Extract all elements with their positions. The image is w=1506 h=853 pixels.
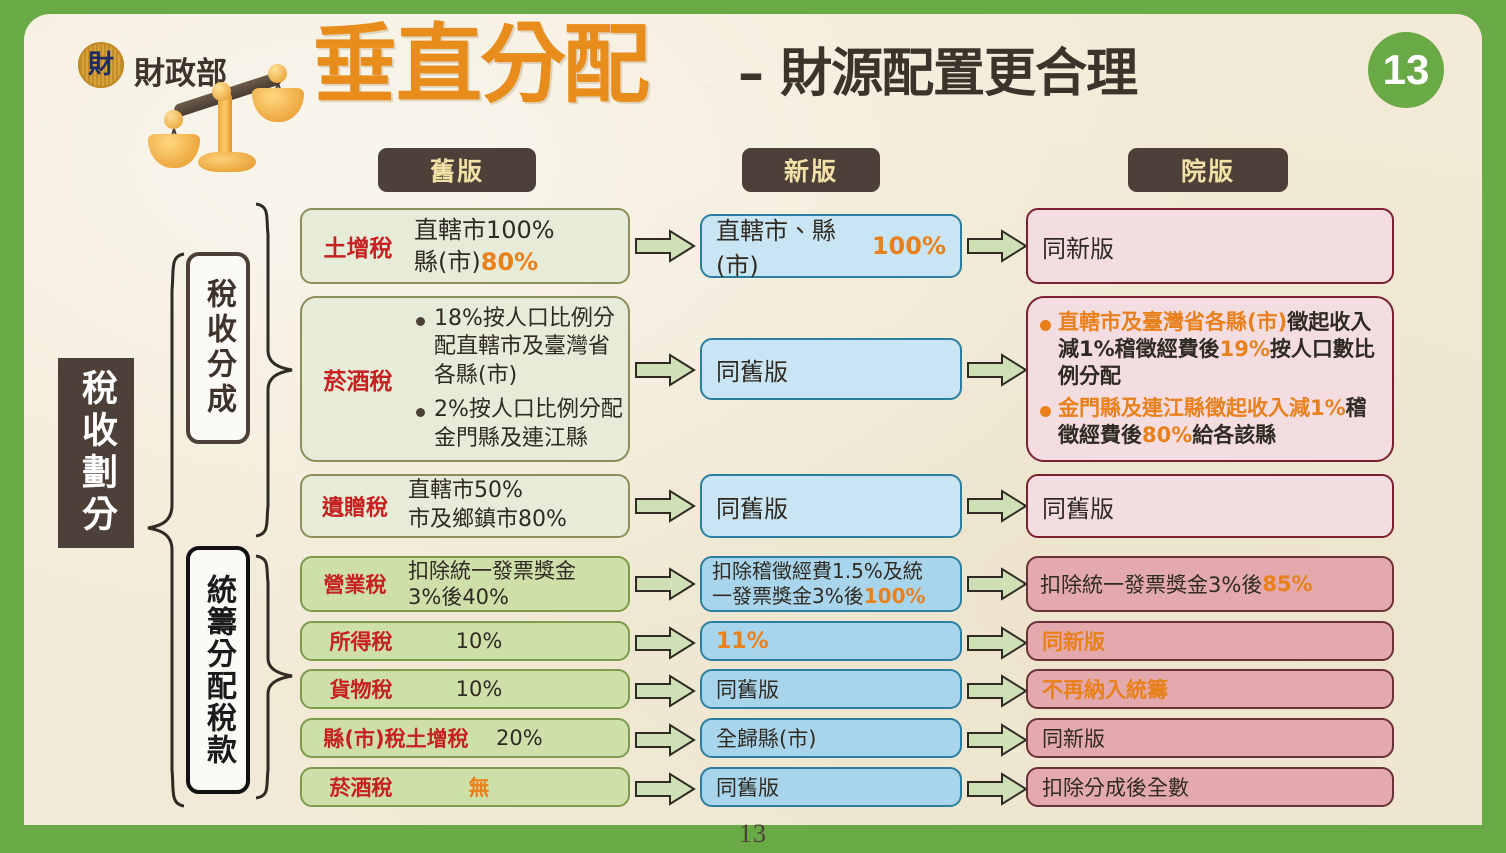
row-2-new-text: 同舊版 [716, 489, 788, 524]
row-5-arrow-old-to-new [634, 674, 696, 708]
row-6-executive-text: 同新版 [1042, 723, 1105, 753]
row-4-tax-label: 所得稅 [302, 626, 420, 656]
row-6-tax-label: 縣(市)稅土增稅 [302, 723, 490, 753]
row-1-exe-b1-hl: 80% [1142, 423, 1192, 447]
row-7-new-text: 同舊版 [716, 772, 779, 802]
row-2-old-line-1: 市及鄉鎮市80% [408, 506, 628, 535]
row-6-arrow-old-to-new [634, 723, 696, 757]
row-5-executive-highlight: 不再納入統籌 [1042, 674, 1168, 704]
row-0-old-line-1: 縣(市) [414, 248, 481, 276]
row-0-new-box: 直轄市、縣(市)100% [700, 214, 962, 278]
row-4-new-highlight: 11% [716, 629, 769, 654]
row-0-arrow-new-to-exe [966, 229, 1028, 263]
row-0-old-highlight: 80% [481, 248, 538, 276]
left-group-label-centrally-allocated: 統籌分配稅款 [186, 546, 250, 794]
row-6-new-text: 全歸縣(市) [716, 723, 816, 753]
row-3-executive-text: 扣除統一發票獎金3%後 [1040, 569, 1262, 599]
row-5-old-value: 10% [420, 677, 628, 701]
left-group-label-tax-sharing: 稅收分成 [186, 252, 250, 444]
row-5-arrow-new-to-exe [966, 674, 1028, 708]
row-2-arrow-new-to-exe [966, 489, 1028, 523]
row-1-new-text: 同舊版 [716, 352, 788, 387]
row-0-old-box: 土增稅 直轄市100% 縣(市)80% [300, 208, 630, 284]
row-4-arrow-new-to-exe [966, 626, 1028, 660]
row-2-old-box: 遺贈稅 直轄市50% 市及鄉鎮市80% [300, 474, 630, 538]
row-0-new-text: 直轄市、縣(市) [716, 211, 872, 281]
row-6-new-box: 全歸縣(市) [700, 718, 962, 758]
footer-page-number: 13 [0, 819, 1506, 849]
row-1-arrow-old-to-new [634, 353, 696, 387]
row-1-tax-label: 菸酒稅 [302, 362, 414, 396]
row-2-old-line-0: 直轄市50% [408, 477, 628, 506]
row-3-executive-box: 扣除統一發票獎金3%後85% [1026, 556, 1394, 612]
row-7-old-highlight: 無 [469, 776, 490, 800]
row-4-old-value: 10% [420, 629, 628, 653]
row-1-exe-b1-tail: 給各該縣 [1192, 423, 1276, 447]
row-3-new-highlight: 100% [864, 584, 926, 608]
row-6-executive-box: 同新版 [1026, 718, 1394, 758]
row-1-arrow-new-to-exe [966, 353, 1028, 387]
row-3-new-line-1: 一發票獎金3%後 [712, 584, 864, 608]
row-0-new-highlight: 100% [872, 232, 946, 260]
row-7-arrow-new-to-exe [966, 772, 1028, 806]
row-4-new-box: 11% [700, 621, 962, 661]
row-1-exe-b0-head: 直轄市及臺灣省各縣(市) [1058, 310, 1287, 334]
row-7-new-box: 同舊版 [700, 767, 962, 807]
row-4-old-box: 所得稅 10% [300, 621, 630, 661]
row-3-executive-highlight: 85% [1262, 572, 1312, 596]
row-3-old-line-0: 扣除統一發票獎金 [408, 558, 628, 584]
row-0-executive-text: 同新版 [1042, 229, 1114, 264]
column-header-old: 舊版 [378, 148, 536, 192]
row-0-arrow-old-to-new [634, 229, 696, 263]
row-0-tax-label: 土增稅 [302, 229, 414, 263]
row-7-arrow-old-to-new [634, 772, 696, 806]
row-5-executive-box: 不再納入統籌 [1026, 669, 1394, 709]
row-7-executive-box: 扣除分成後全數 [1026, 767, 1394, 807]
row-0-old-line-0: 直轄市100% [414, 214, 628, 246]
row-5-tax-label: 貨物稅 [302, 674, 420, 704]
column-header-new: 新版 [742, 148, 880, 192]
row-1-exe-b1-head: 金門縣及連江縣徵起收入減1% [1058, 396, 1346, 420]
row-7-executive-text: 扣除分成後全數 [1042, 772, 1189, 802]
logo-glyph: 財 [78, 44, 124, 81]
row-1-new-box: 同舊版 [700, 338, 962, 400]
left-root-label: 稅收劃分 [58, 358, 134, 548]
row-2-arrow-old-to-new [634, 489, 696, 523]
row-6-arrow-new-to-exe [966, 723, 1028, 757]
row-5-new-text: 同舊版 [716, 674, 779, 704]
row-7-tax-label: 菸酒稅 [302, 772, 420, 802]
row-3-tax-label: 營業稅 [302, 569, 408, 599]
row-4-executive-box: 同新版 [1026, 621, 1394, 661]
row-6-old-box: 縣(市)稅土增稅 20% [300, 718, 630, 758]
row-1-old-box: 菸酒稅 18%按人口比例分配直轄市及臺灣省各縣(市) 2%按人口比例分配金門縣及… [300, 296, 630, 462]
row-3-arrow-new-to-exe [966, 567, 1028, 601]
column-header-executive: 院版 [1128, 148, 1288, 192]
row-3-old-line-1: 3%後40% [408, 584, 628, 610]
slide-root: 財 財政部 垂直分配 – 財源配置更合理 13 舊版 新版 院版 稅收劃分 稅收… [0, 0, 1506, 853]
row-3-old-box: 營業稅 扣除統一發票獎金 3%後40% [300, 556, 630, 612]
row-3-new-line-0: 扣除稽徵經費1.5%及統 [712, 559, 926, 584]
row-1-old-bullet-1: 2%按人口比例分配金門縣及連江縣 [414, 396, 628, 453]
row-5-new-box: 同舊版 [700, 669, 962, 709]
row-0-executive-box: 同新版 [1026, 208, 1394, 284]
row-1-executive-box: 直轄市及臺灣省各縣(市)徵起收入減1%稽徵經費後19%按人口數比例分配 金門縣及… [1026, 296, 1394, 462]
row-2-new-box: 同舊版 [700, 474, 962, 538]
row-4-arrow-old-to-new [634, 626, 696, 660]
row-2-executive-text: 同舊版 [1042, 489, 1114, 524]
row-3-new-box: 扣除稽徵經費1.5%及統 一發票獎金3%後100% [700, 556, 962, 612]
row-3-arrow-old-to-new [634, 567, 696, 601]
row-7-old-box: 菸酒稅 無 [300, 767, 630, 807]
row-4-executive-highlight: 同新版 [1042, 626, 1105, 656]
row-2-executive-box: 同舊版 [1026, 474, 1394, 538]
page-number-badge: 13 [1368, 32, 1444, 108]
page-title: 垂直分配 [312, 22, 648, 108]
ministry-of-finance-logo-icon: 財 [78, 42, 124, 88]
balance-scales-icon [146, 60, 316, 170]
row-6-old-value: 20% [490, 726, 628, 750]
row-2-tax-label: 遺贈稅 [302, 490, 408, 522]
row-1-exe-b0-hl: 19% [1220, 337, 1270, 361]
row-1-old-bullet-0: 18%按人口比例分配直轄市及臺灣省各縣(市) [414, 305, 628, 391]
page-subtitle: – 財源配置更合理 [738, 48, 1137, 100]
row-5-old-box: 貨物稅 10% [300, 669, 630, 709]
